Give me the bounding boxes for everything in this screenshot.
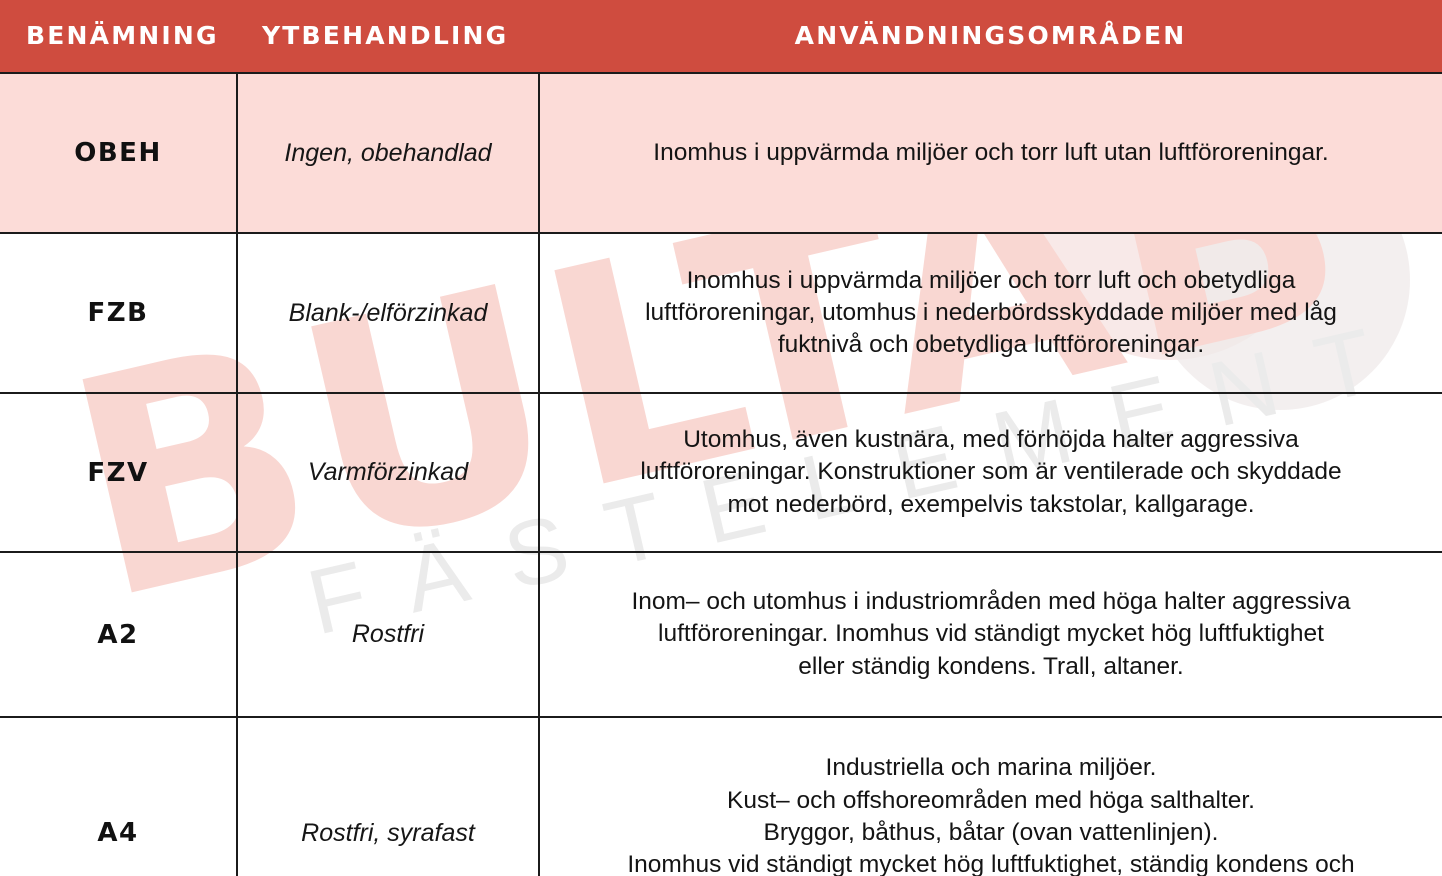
usage-line: Utomhus, även kustnära, med förhöjda hal… bbox=[562, 424, 1420, 456]
column-header-ytbehandling: YTBEHANDLING bbox=[237, 0, 539, 73]
table-row: A4 Rostfri, syrafast Industriella och ma… bbox=[0, 717, 1442, 876]
usage-line: Bryggor, båthus, båtar (ovan vattenlinje… bbox=[562, 817, 1420, 849]
usage-line: Industriella och marina miljöer. bbox=[562, 752, 1420, 784]
table-row: FZV Varmförzinkad Utomhus, även kustnära… bbox=[0, 393, 1442, 552]
table-row: A2 Rostfri Inom– och utomhus i industrio… bbox=[0, 552, 1442, 717]
usage-line: luftföroreningar, utomhus i nederbördssk… bbox=[562, 297, 1420, 329]
usage-line: fuktnivå och obetydliga luftföroreningar… bbox=[562, 329, 1420, 361]
table-body: OBEH Ingen, obehandlad Inomhus i uppvärm… bbox=[0, 73, 1442, 876]
usage-line: mot nederbörd, exempelvis takstolar, kal… bbox=[562, 489, 1420, 521]
usage-line: luftföroreningar. Konstruktioner som är … bbox=[562, 456, 1420, 488]
table-header: BENÄMNING YTBEHANDLING ANVÄNDNINGSOMRÅDE… bbox=[0, 0, 1442, 73]
usage-line: Inom– och utomhus i industriområden med … bbox=[562, 586, 1420, 618]
cell-surface: Rostfri bbox=[237, 552, 539, 717]
table-header-row: BENÄMNING YTBEHANDLING ANVÄNDNINGSOMRÅDE… bbox=[0, 0, 1442, 73]
cell-code: A4 bbox=[0, 717, 237, 876]
cell-usage: Utomhus, även kustnära, med förhöjda hal… bbox=[539, 393, 1442, 552]
cell-usage: Inomhus i uppvärmda miljöer och torr luf… bbox=[539, 73, 1442, 233]
cell-surface: Ingen, obehandlad bbox=[237, 73, 539, 233]
usage-line: Inomhus vid ständigt mycket hög luftfukt… bbox=[562, 849, 1420, 876]
cell-code: A2 bbox=[0, 552, 237, 717]
cell-code: FZB bbox=[0, 233, 237, 393]
cell-surface: Rostfri, syrafast bbox=[237, 717, 539, 876]
table-row: OBEH Ingen, obehandlad Inomhus i uppvärm… bbox=[0, 73, 1442, 233]
column-header-benamning: BENÄMNING bbox=[0, 0, 237, 73]
cell-usage: Industriella och marina miljöer. Kust– o… bbox=[539, 717, 1442, 876]
cell-code: FZV bbox=[0, 393, 237, 552]
cell-code: OBEH bbox=[0, 73, 237, 233]
usage-line: luftföroreningar. Inomhus vid ständigt m… bbox=[562, 618, 1420, 650]
cell-surface: Blank-/elförzinkad bbox=[237, 233, 539, 393]
cell-surface: Varmförzinkad bbox=[237, 393, 539, 552]
cell-usage: Inomhus i uppvärmda miljöer och torr luf… bbox=[539, 233, 1442, 393]
usage-line: eller ständig kondens. Trall, altaner. bbox=[562, 651, 1420, 683]
usage-line: Inomhus i uppvärmda miljöer och torr luf… bbox=[562, 265, 1420, 297]
surface-treatment-table-page: BULTAB FÄSTELEMENT BENÄMNING YTBEHANDLIN… bbox=[0, 0, 1442, 876]
table-row: FZB Blank-/elförzinkad Inomhus i uppvärm… bbox=[0, 233, 1442, 393]
cell-usage: Inom– och utomhus i industriområden med … bbox=[539, 552, 1442, 717]
surface-treatment-table: BENÄMNING YTBEHANDLING ANVÄNDNINGSOMRÅDE… bbox=[0, 0, 1442, 876]
column-header-anvandningsomraden: ANVÄNDNINGSOMRÅDEN bbox=[539, 0, 1442, 73]
usage-line: Inomhus i uppvärmda miljöer och torr luf… bbox=[562, 137, 1420, 169]
usage-line: Kust– och offshoreområden med höga salth… bbox=[562, 785, 1420, 817]
